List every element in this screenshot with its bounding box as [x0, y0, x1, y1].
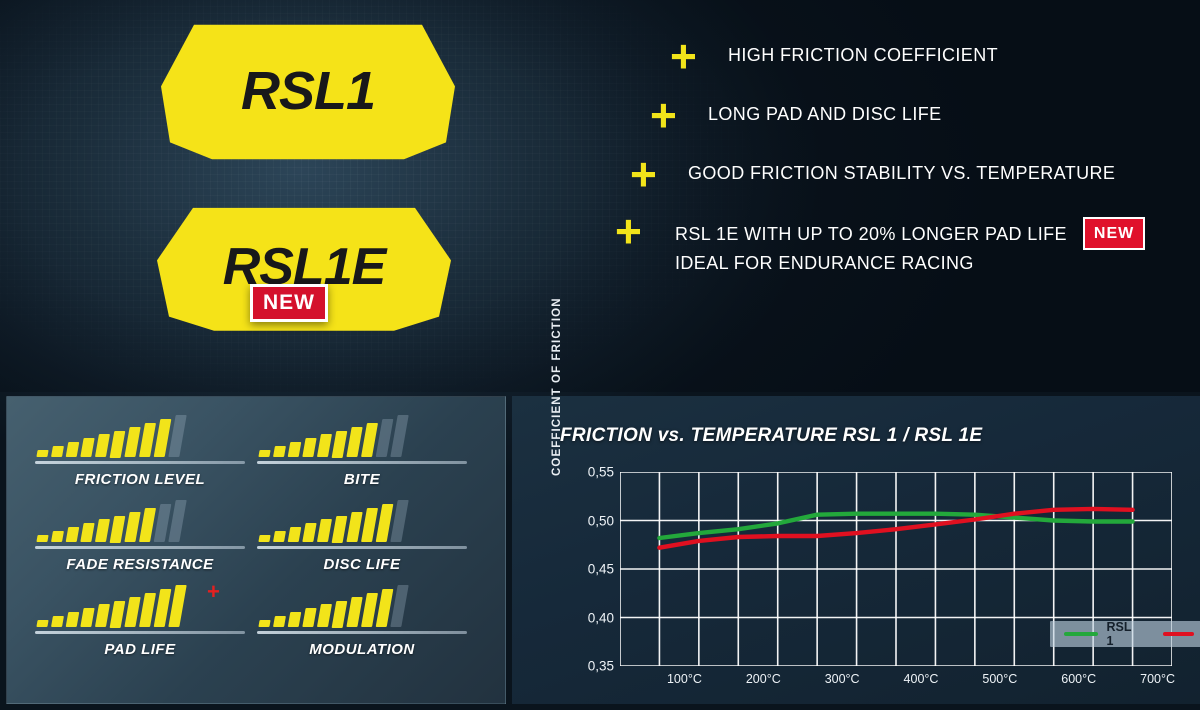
plus-icon: + — [615, 213, 642, 249]
rating-bar — [317, 604, 332, 627]
rating-bar — [36, 535, 48, 542]
rating-bar — [80, 523, 94, 542]
rsl1-pad: RSL1 — [158, 22, 458, 162]
rating-label: MODULATION — [251, 641, 473, 658]
rating-label: FRICTION LEVEL — [29, 471, 251, 488]
feature-label-line1: RSL 1E WITH UP TO 20% LONGER PAD LIFE — [675, 224, 1067, 244]
rating-bar — [346, 512, 362, 542]
chart-y-tick: 0,45 — [568, 562, 614, 577]
rating-bar — [95, 434, 110, 457]
rating-bar — [390, 500, 408, 542]
brake-pads-group: RSL1 RSL1E NEW — [150, 22, 480, 342]
rating-bar — [124, 512, 140, 542]
feature-item: + HIGH FRICTION COEFFICIENT — [615, 42, 1190, 69]
rating-bar — [346, 597, 362, 627]
rating-bar — [317, 434, 332, 457]
rating-underline — [257, 546, 467, 549]
rating-bar — [168, 415, 186, 457]
legend-swatch — [1163, 632, 1194, 636]
ratings-row: + PAD LIFE MODULATION — [29, 583, 489, 668]
rating-bar — [273, 446, 286, 457]
chart-x-tick: 300°C — [825, 672, 860, 686]
rating-bar — [124, 597, 140, 627]
rating-fade-resistance: FADE RESISTANCE — [29, 498, 251, 573]
rating-bar — [36, 620, 48, 627]
chart-y-tick: 0,40 — [568, 610, 614, 625]
rating-bar — [66, 442, 80, 457]
rating-bar — [95, 604, 110, 627]
infographic-root: RSL1 RSL1E NEW + HIGH FRICTION COEFFICIE… — [0, 0, 1200, 710]
feature-item: + GOOD FRICTION STABILITY VS. TEMPERATUR… — [615, 160, 1190, 187]
feature-label-block: RSL 1E WITH UP TO 20% LONGER PAD LIFENEW… — [675, 217, 1145, 277]
rating-bars — [251, 413, 473, 457]
ratings-row: FADE RESISTANCE DISC LIFE — [29, 498, 489, 583]
rating-label: DISC LIFE — [251, 556, 473, 573]
rating-bar — [168, 585, 186, 627]
chart-legend: RSL 1 RSL 1E — [1050, 621, 1200, 647]
rating-bars — [29, 413, 251, 457]
ratings-grid: FRICTION LEVEL BITE FADE RESISTANCE — [29, 413, 489, 668]
rating-friction-level: FRICTION LEVEL — [29, 413, 251, 488]
rating-bar — [332, 431, 348, 458]
rating-bar — [302, 438, 316, 457]
plus-icon: + — [630, 156, 657, 192]
rating-bar — [66, 527, 80, 542]
legend-label: RSL 1 — [1106, 620, 1136, 648]
rating-bar — [80, 608, 94, 627]
legend-item-rsl1: RSL 1 — [1064, 620, 1137, 648]
rating-bar — [390, 585, 408, 627]
rating-bar — [288, 442, 302, 457]
rating-modulation: MODULATION — [251, 583, 473, 658]
rating-underline — [35, 631, 245, 634]
rating-label: PAD LIFE — [29, 641, 251, 658]
rating-bar — [168, 500, 186, 542]
rating-bar — [288, 612, 302, 627]
rating-bar — [288, 527, 302, 542]
rating-underline — [257, 461, 467, 464]
rating-bite: BITE — [251, 413, 473, 488]
chart-x-tick: 500°C — [982, 672, 1017, 686]
chart-y-tick: 0,35 — [568, 659, 614, 674]
rating-bar — [390, 415, 408, 457]
chart-title: FRICTION vs. TEMPERATURE RSL 1 / RSL 1E — [560, 425, 982, 447]
feature-new-badge: NEW — [1083, 217, 1145, 250]
rsl1e-new-badge: NEW — [250, 284, 328, 322]
pad-life-plus-marker: + — [207, 585, 220, 599]
rating-bar — [36, 450, 48, 457]
feature-label: HIGH FRICTION COEFFICIENT — [728, 42, 998, 69]
rating-bar — [80, 438, 94, 457]
rsl1-pad-label: RSL1 — [158, 60, 458, 122]
rating-bar — [258, 450, 270, 457]
feature-label-line2: IDEAL FOR ENDURANCE RACING — [675, 253, 974, 273]
rating-bars — [251, 498, 473, 542]
feature-item: + RSL 1E WITH UP TO 20% LONGER PAD LIFEN… — [615, 217, 1190, 277]
rating-bar — [332, 516, 348, 543]
feature-item: + LONG PAD AND DISC LIFE — [615, 101, 1190, 128]
chart-plot-area: 0,550,500,450,400,35 100°C200°C300°C400°… — [620, 472, 1172, 666]
rating-bar — [302, 523, 316, 542]
rating-bar — [124, 427, 140, 457]
chart-y-axis-label: COEFFICIENT OF FRICTION — [551, 316, 563, 476]
chart-x-tick: 100°C — [667, 672, 702, 686]
rating-bar — [273, 616, 286, 627]
rating-bar — [51, 531, 64, 542]
chart-x-tick: 600°C — [1061, 672, 1096, 686]
plus-icon: + — [670, 38, 697, 74]
rating-bar — [110, 431, 126, 458]
rating-bar — [258, 620, 270, 627]
rating-bar — [95, 519, 110, 542]
feature-label: GOOD FRICTION STABILITY VS. TEMPERATURE — [688, 160, 1115, 187]
rating-bar — [346, 427, 362, 457]
rating-underline — [35, 461, 245, 464]
plus-icon: + — [650, 97, 677, 133]
rating-bar — [51, 616, 64, 627]
chart-x-tick: 200°C — [746, 672, 781, 686]
chart-x-tick: 400°C — [904, 672, 939, 686]
feature-label: LONG PAD AND DISC LIFE — [708, 101, 942, 128]
legend-swatch — [1064, 632, 1098, 636]
rating-bar — [332, 601, 348, 628]
rating-bar — [302, 608, 316, 627]
rating-disc-life: DISC LIFE — [251, 498, 473, 573]
rating-bar — [110, 601, 126, 628]
ratings-panel: FRICTION LEVEL BITE FADE RESISTANCE — [6, 396, 506, 704]
rating-bar — [258, 535, 270, 542]
rating-bars — [251, 583, 473, 627]
rating-bar — [66, 612, 80, 627]
legend-item-rsl1e: RSL 1E — [1163, 620, 1200, 648]
chart-y-tick: 0,55 — [568, 465, 614, 480]
rating-label: BITE — [251, 471, 473, 488]
ratings-row: FRICTION LEVEL BITE — [29, 413, 489, 498]
rating-bar — [51, 446, 64, 457]
rating-pad-life: + PAD LIFE — [29, 583, 251, 658]
chart-panel: FRICTION vs. TEMPERATURE RSL 1 / RSL 1E … — [512, 396, 1200, 704]
rating-bar — [317, 519, 332, 542]
rating-bar — [273, 531, 286, 542]
chart-x-tick: 700°C — [1140, 672, 1175, 686]
rating-underline — [35, 546, 245, 549]
rating-label: FADE RESISTANCE — [29, 556, 251, 573]
rating-underline — [257, 631, 467, 634]
rating-bar — [110, 516, 126, 543]
chart-y-tick: 0,50 — [568, 513, 614, 528]
feature-list: + HIGH FRICTION COEFFICIENT + LONG PAD A… — [615, 34, 1190, 277]
rating-bars — [29, 498, 251, 542]
